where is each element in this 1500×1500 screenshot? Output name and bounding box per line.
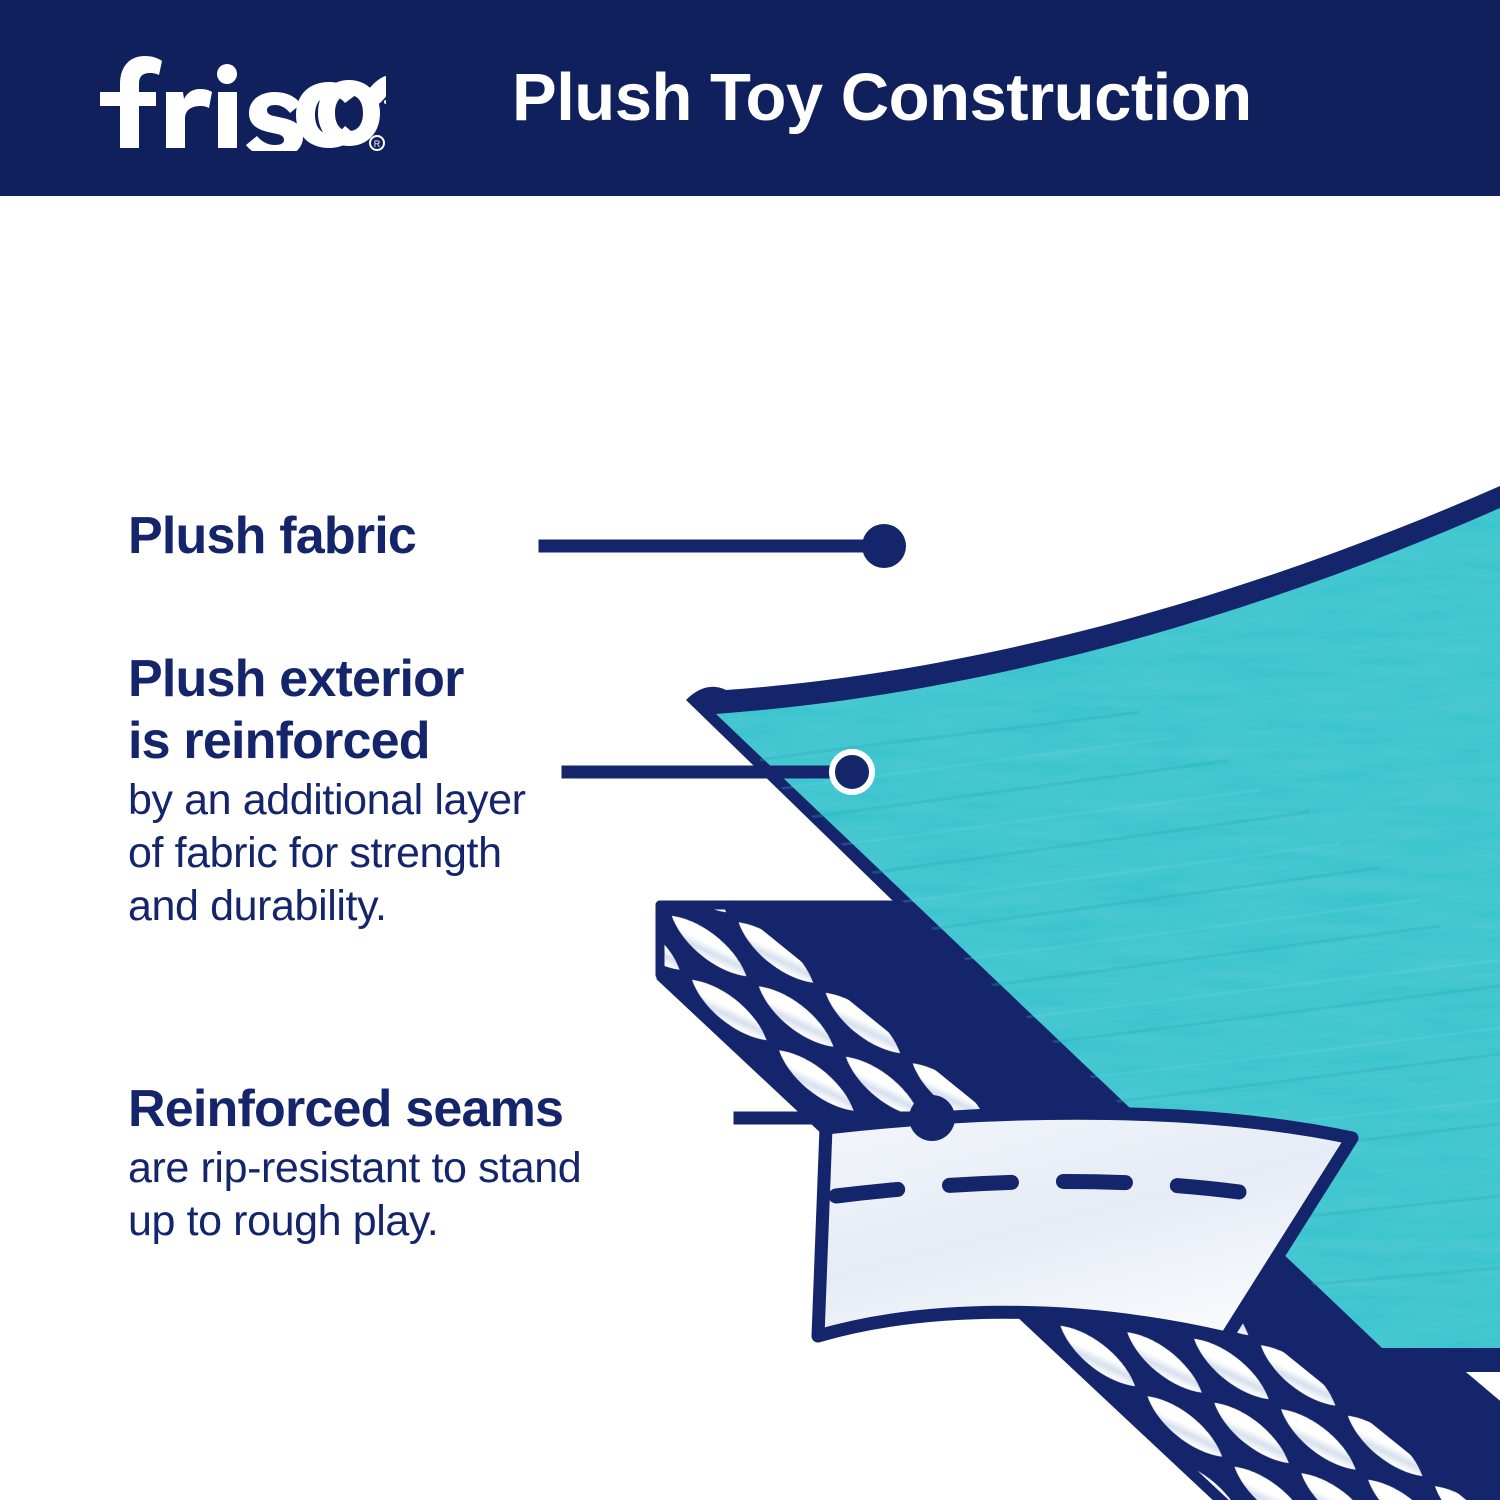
header-bar: R Plush Toy Construction xyxy=(0,0,1500,196)
frisco-logo: R xyxy=(86,46,386,151)
leader-dot-plush-fabric xyxy=(862,524,906,568)
frisco-wordmark-icon: R xyxy=(86,46,386,151)
page-title: Plush Toy Construction xyxy=(512,48,1392,148)
leader-dot-reinforced-seams xyxy=(909,1095,955,1141)
svg-text:R: R xyxy=(374,139,381,149)
infographic-page: R Plush Toy Construction Plush fabric Pl… xyxy=(0,0,1500,1500)
leader-dot-plush-exterior xyxy=(832,752,872,792)
plush-toy-cutaway-illustration xyxy=(0,196,1500,1500)
